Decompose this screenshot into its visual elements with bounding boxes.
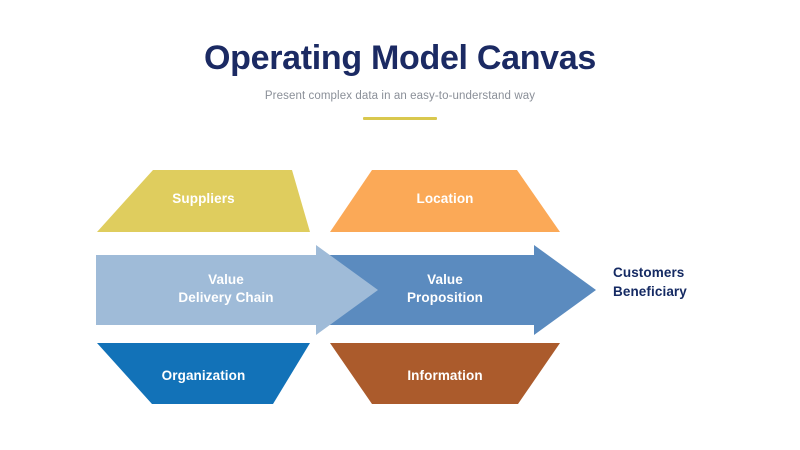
outcome-label-line1: Customers [613, 263, 687, 282]
shape-suppliers[interactable] [97, 170, 310, 232]
accent-divider [363, 117, 437, 120]
shape-location[interactable] [330, 170, 560, 232]
slide-header: Operating Model Canvas Present complex d… [0, 38, 800, 120]
outcome-label-line2: Beneficiary [613, 282, 687, 301]
page-title: Operating Model Canvas [0, 38, 800, 78]
page-subtitle: Present complex data in an easy-to-under… [0, 88, 800, 104]
shape-information[interactable] [330, 343, 560, 404]
shape-organization[interactable] [97, 343, 310, 404]
slide-canvas: Operating Model Canvas Present complex d… [0, 0, 800, 450]
outcome-label: Customers Beneficiary [613, 263, 687, 301]
